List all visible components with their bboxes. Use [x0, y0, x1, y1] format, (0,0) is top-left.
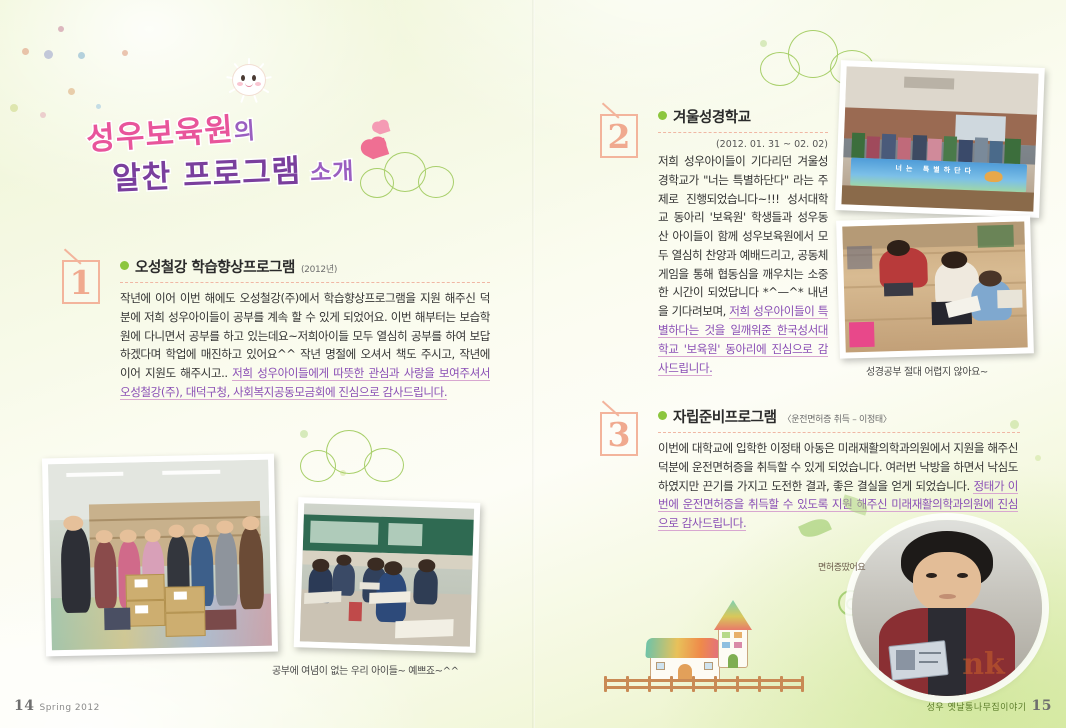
bullet-icon-2 [658, 111, 667, 120]
article-3-title: 자립준비프로그램 [673, 406, 777, 427]
bullet-icon-1 [120, 261, 129, 270]
house-icon-tower [712, 600, 754, 668]
photo-donation-group [42, 454, 278, 657]
footer-left: 14 Spring 2012 [14, 698, 100, 714]
photo-floor-study [836, 215, 1034, 358]
footer-right-label: 성우 옛날통나무집이야기 [927, 700, 1027, 713]
article-3-number: 3 [600, 412, 638, 456]
page-number-left: 14 [14, 698, 34, 714]
article-1-number: 1 [62, 260, 100, 304]
article-2-header: 겨울성경학교 [658, 106, 828, 127]
banner-text: 너는 특별하단다 [886, 165, 985, 180]
sun-icon [228, 60, 270, 102]
title-line2-main: 알찬 프로그램 [111, 153, 301, 197]
article-3-body-plain: 이번에 대학교에 입학한 이정태 아동은 미래재활의학과의원에서 지원을 해주신… [658, 441, 1018, 493]
magazine-spread: 성우보육원의 알찬 프로그램 소개 1 오성철강 학 [0, 0, 1066, 728]
photo-license-portrait: nk [852, 520, 1042, 696]
article-3-rule [658, 432, 1020, 433]
page-number-right: 15 [1032, 698, 1052, 714]
title-line1-suffix: 의 [233, 118, 257, 145]
caption-classroom-study: 공부에 여념이 없는 우리 아이들~ 예쁘죠~^^ [272, 662, 459, 677]
photo-classroom-study [294, 497, 481, 653]
spread-title: 성우보육원의 알찬 프로그램 소개 [76, 108, 376, 200]
article-2-body-plain: 저희 성우아이들이 기다리던 겨울성경학교가 "너는 특별하단다" 라는 주제로… [658, 154, 828, 318]
article-1-title: 오성철강 학습향상프로그램 [135, 256, 295, 277]
footer-right: 성우 옛날통나무집이야기 15 [927, 698, 1052, 714]
article-2-title: 겨울성경학교 [673, 106, 751, 127]
article-3-body: 이번에 대학교에 입학한 이정태 아동은 미래재활의학과의원에서 지원을 해주신… [658, 439, 1018, 533]
article-2-body: 저희 성우아이들이 기다리던 겨울성경학교가 "너는 특별하단다" 라는 주제로… [658, 152, 828, 377]
article-3-note: 〈운전면허증 취득 – 이정태〉 [783, 412, 892, 425]
article-2-date: (2012. 01. 31 ~ 02. 02) [658, 139, 828, 150]
caption-floor-study: 성경공부 절대 어렵지 않아요~ [866, 363, 988, 378]
article-1: 1 오성철강 학습향상프로그램 (2012년) 작년에 이어 이번 해에도 오성… [62, 256, 490, 402]
bullet-icon-3 [658, 411, 667, 420]
footer-left-label: Spring 2012 [39, 703, 99, 713]
article-2-rule [658, 132, 828, 133]
article-1-header: 오성철강 학습향상프로그램 (2012년) [120, 256, 490, 277]
article-2-number: 2 [600, 114, 638, 158]
title-line2-suffix: 소개 [301, 159, 355, 187]
cloud-outline-mid [300, 430, 410, 482]
fence-icon [604, 676, 804, 692]
photo-bible-school-group: 너는 특별하단다 [835, 60, 1045, 218]
article-1-note: (2012년) [301, 262, 337, 275]
caption-license-portrait: 면허증땄어요 [818, 560, 865, 573]
article-1-body: 작년에 이어 이번 해에도 오성철강(주)에서 학습향상프로그램을 지원 해주신… [120, 289, 490, 402]
cloud-outline-left [360, 150, 460, 198]
article-1-rule [120, 282, 490, 283]
article-2: 2 겨울성경학교 (2012. 01. 31 ~ 02. 02) 저희 성우아이… [600, 106, 828, 377]
article-3: 3 자립준비프로그램 〈운전면허증 취득 – 이정태〉 이번에 대학교에 입학한… [600, 406, 1020, 533]
article-3-header: 자립준비프로그램 〈운전면허증 취득 – 이정태〉 [658, 406, 1020, 427]
page-gutter [532, 0, 535, 728]
